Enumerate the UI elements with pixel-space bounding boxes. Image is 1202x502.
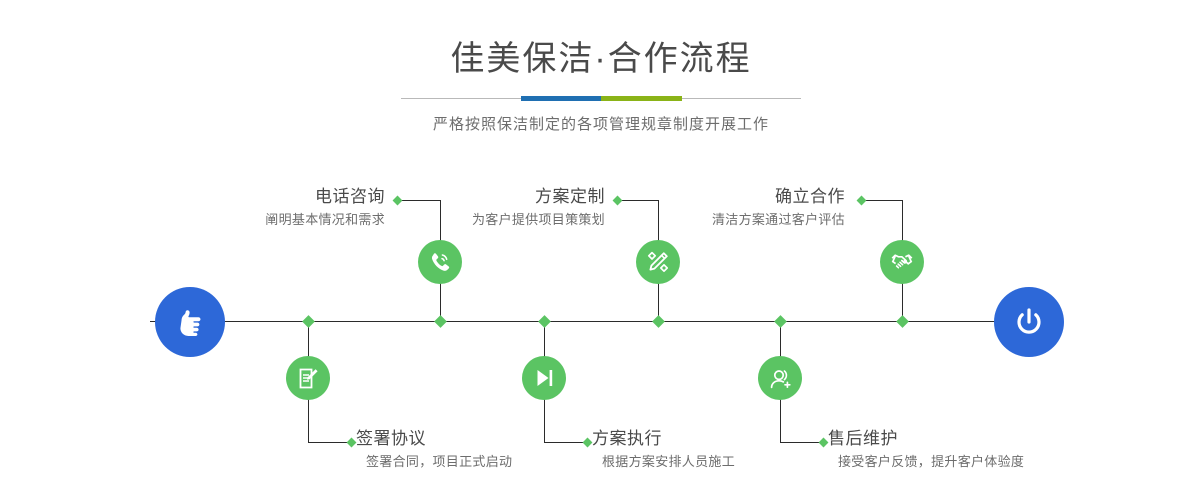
connector-tip-4 <box>583 438 593 448</box>
step-icon-3[interactable] <box>636 240 680 284</box>
power-icon <box>1010 303 1048 341</box>
pointing-hand-icon <box>171 303 209 341</box>
step-icon-2[interactable] <box>286 356 330 400</box>
step-title-6: 售后维护 <box>828 428 1078 450</box>
phone-call-icon <box>427 249 453 275</box>
step-label-3: 方案定制 为客户提供项目策策划 <box>400 186 605 230</box>
axis-marker-6 <box>774 315 787 328</box>
axis-marker-4 <box>538 315 551 328</box>
step-title-5: 确立合作 <box>640 186 845 208</box>
step-desc-4: 根据方案安排人员施工 <box>602 452 812 472</box>
step-desc-1: 阐明基本情况和需求 <box>180 210 385 230</box>
flow-end-node <box>994 287 1064 357</box>
step-label-6: 售后维护 接受客户反馈，提升客户体验度 <box>828 428 1078 472</box>
step-title-3: 方案定制 <box>400 186 605 208</box>
step-icon-1[interactable] <box>418 240 462 284</box>
step-title-1: 电话咨询 <box>180 186 385 208</box>
process-flow-infographic: 佳美保洁·合作流程 严格按照保洁制定的各项管理规章制度开展工作 <box>0 0 1202 502</box>
step-desc-2: 签署合同，项目正式启动 <box>366 452 576 472</box>
step-desc-5: 清洁方案通过客户评估 <box>640 210 845 230</box>
connector-tip-6 <box>819 438 829 448</box>
connector-elbow-1 <box>397 200 441 201</box>
document-pencil-icon <box>296 366 321 391</box>
step-label-5: 确立合作 清洁方案通过客户评估 <box>640 186 845 230</box>
step-title-4: 方案执行 <box>592 428 812 450</box>
step-label-1: 电话咨询 阐明基本情况和需求 <box>180 186 385 230</box>
step-desc-6: 接受客户反馈，提升客户体验度 <box>838 452 1078 472</box>
step-desc-3: 为客户提供项目策策划 <box>400 210 605 230</box>
play-skip-icon <box>532 366 556 390</box>
timeline-axis <box>150 321 1060 322</box>
axis-marker-2 <box>302 315 315 328</box>
connector-tip-2 <box>347 438 357 448</box>
step-icon-6[interactable] <box>758 356 802 400</box>
axis-marker-5 <box>896 315 909 328</box>
step-title-2: 签署协议 <box>356 428 576 450</box>
step-label-4: 方案执行 根据方案安排人员施工 <box>592 428 812 472</box>
step-icon-5[interactable] <box>880 240 924 284</box>
step-icon-4[interactable] <box>522 356 566 400</box>
flow-start-node <box>155 287 225 357</box>
connector-tip-3 <box>613 196 623 206</box>
connector-elbow-3 <box>617 200 659 201</box>
handshake-icon <box>889 249 915 275</box>
connector-tip-5 <box>857 196 867 206</box>
timeline: 电话咨询 阐明基本情况和需求 签署协议 签署合同，项目正式启动 <box>0 0 1202 502</box>
axis-marker-3 <box>652 315 665 328</box>
pencil-design-icon <box>645 249 671 275</box>
customer-service-add-icon <box>768 366 793 391</box>
axis-marker-1 <box>434 315 447 328</box>
step-label-2: 签署协议 签署合同，项目正式启动 <box>356 428 576 472</box>
connector-elbow-5 <box>861 200 903 201</box>
